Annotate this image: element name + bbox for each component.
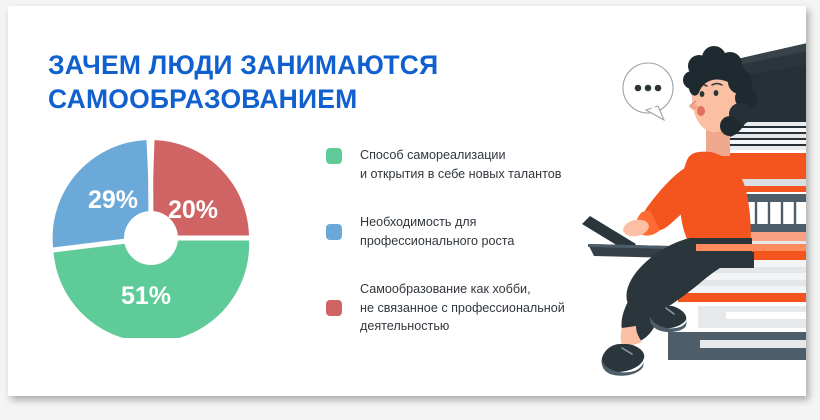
eye — [700, 91, 705, 97]
legend-label-blue: Необходимость для профессионального рост… — [360, 213, 514, 250]
legend-item-red[interactable]: Самообразование как хобби, не связанное … — [326, 280, 596, 336]
mouth — [697, 106, 705, 116]
donut-chart-svg: 20% 29% 51% — [51, 138, 251, 338]
page-title-line-2: САМООБРАЗОВАНИЕМ — [48, 82, 518, 116]
legend-label-red: Самообразование как хобби, не связанное … — [360, 280, 565, 336]
shoe-lower — [602, 344, 645, 376]
speech-bubble-icon — [623, 63, 673, 120]
book-edge-front — [696, 244, 806, 251]
donut-label-blue: 29% — [88, 186, 138, 214]
screenshot-root: ЗАЧЕМ ЛЮДИ ЗАНИМАЮТСЯ САМООБРАЗОВАНИЕМ — [0, 0, 820, 420]
legend-swatch-green-icon — [326, 148, 342, 164]
legend-label-green: Способ самореализации и открытия в себе … — [360, 146, 561, 183]
chart-legend: Способ самореализации и открытия в себе … — [326, 146, 596, 336]
legend-swatch-blue-icon — [326, 224, 342, 240]
page-title: ЗАЧЕМ ЛЮДИ ЗАНИМАЮТСЯ САМООБРАЗОВАНИЕМ — [48, 48, 518, 116]
legend-item-blue[interactable]: Необходимость для профессионального рост… — [326, 213, 596, 250]
shoe-upper — [649, 305, 687, 332]
donut-label-red: 20% — [168, 196, 218, 224]
legend-item-green[interactable]: Способ самореализации и открытия в себе … — [326, 146, 596, 183]
illustration — [580, 6, 806, 396]
page-title-line-1: ЗАЧЕМ ЛЮДИ ЗАНИМАЮТСЯ — [48, 48, 518, 82]
illustration-svg — [580, 6, 806, 396]
donut-chart: 20% 29% 51% — [51, 138, 251, 338]
book-stack-lower — [698, 306, 806, 328]
book-stack-bottom — [668, 332, 806, 360]
infographic-card: ЗАЧЕМ ЛЮДИ ЗАНИМАЮТСЯ САМООБРАЗОВАНИЕМ — [8, 6, 806, 396]
legend-swatch-red-icon — [326, 300, 342, 316]
donut-label-green: 51% — [121, 282, 171, 310]
